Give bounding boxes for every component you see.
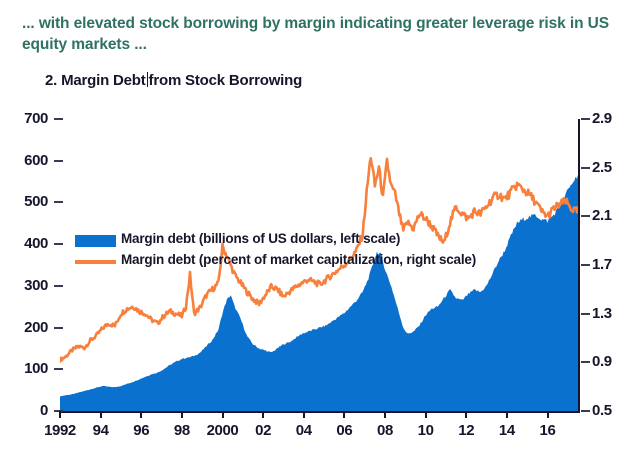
legend-label-percent: Margin debt (percent of market capitaliz… [121,251,476,269]
left-tick [54,327,63,329]
x-tick [222,411,224,418]
left-tick [54,285,63,287]
left-tick [54,201,63,203]
right-axis-line [578,119,580,411]
right-axis-tick-label: 0.9 [592,353,612,370]
x-tick [547,411,549,418]
chart-title-part1: 2. Margin Debt [45,72,146,89]
bar-swatch-icon [75,235,116,247]
legend-item-margin-debt-billions: Margin debt (billions of US dollars, lef… [75,230,476,248]
left-axis-tick-label: 500 [2,193,48,210]
left-tick [54,118,63,120]
page-caption: ... with elevated stock borrowing by mar… [22,14,622,55]
x-tick [506,411,508,418]
left-axis-tick-label: 200 [2,319,48,336]
chart-legend: Margin debt (billions of US dollars, lef… [75,230,476,271]
right-tick [581,118,590,120]
left-axis-tick-label: 400 [2,235,48,252]
chart-title: 2. Margin Debtfrom Stock Borrowing [45,72,302,89]
left-axis-tick-label: 0 [2,402,48,419]
left-axis-tick-label: 600 [2,152,48,169]
right-axis-tick-label: 0.5 [592,402,612,419]
legend-swatch-wrap [75,251,121,264]
text-cursor [147,72,148,87]
legend-item-margin-debt-percent: Margin debt (percent of market capitaliz… [75,251,476,269]
right-tick [581,167,590,169]
x-tick [262,411,264,418]
right-tick [581,361,590,363]
right-axis-tick-label: 2.5 [592,159,612,176]
left-tick [54,160,63,162]
right-tick [581,264,590,266]
left-axis-tick-label: 100 [2,360,48,377]
left-tick [54,243,63,245]
x-axis-tick-label: 16 [523,422,573,439]
right-axis-tick-label: 1.3 [592,305,612,322]
x-tick [181,411,183,418]
right-tick [581,313,590,315]
line-swatch-icon [75,260,116,264]
x-axis-line [60,411,580,413]
right-tick [581,215,590,217]
right-axis-tick-label: 1.7 [592,256,612,273]
x-tick [100,411,102,418]
x-tick [59,411,61,418]
right-tick [581,410,590,412]
right-axis-tick-label: 2.1 [592,207,612,224]
chart-title-part2: from Stock Borrowing [149,72,303,89]
x-tick [425,411,427,418]
right-axis-tick-label: 2.9 [592,110,612,127]
x-tick [303,411,305,418]
margin-debt-billions-area [60,171,580,411]
left-axis-tick-label: 700 [2,110,48,127]
legend-label-billions: Margin debt (billions of US dollars, lef… [121,230,400,248]
x-tick [465,411,467,418]
left-axis-tick-label: 300 [2,277,48,294]
x-tick [384,411,386,418]
legend-swatch-wrap [75,230,121,247]
x-tick [140,411,142,418]
left-tick [54,368,63,370]
x-tick [343,411,345,418]
chart-plot-area: 0100200300400500600700 0.50.91.31.72.12.… [0,100,640,449]
